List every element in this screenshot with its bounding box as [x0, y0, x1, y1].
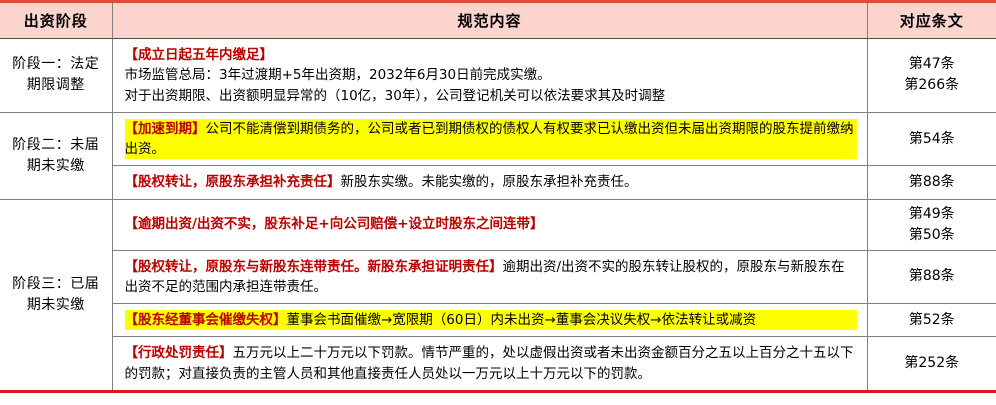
legal-table-container: 出资阶段 规范内容 对应条文 阶段一：法定期限调整【成立日起五年内缴足】市场监管…: [0, 0, 996, 405]
table-row: 【股权转让，原股东与新股东连带责任。新股东承担证明责任】逾期出资/出资不实的股东…: [0, 250, 996, 304]
content-paragraph: 【股权转让，原股东与新股东连带责任。新股东承担证明责任】逾期出资/出资不实的股东…: [125, 257, 857, 298]
content-cell: 【逾期出资/出资不实，股东补足+向公司赔偿+设立时股东之间连带】: [112, 199, 867, 250]
stage-label-cell: 阶段一：法定期限调整: [0, 39, 112, 113]
table-row: 阶段二：未届期未实缴【加速到期】公司不能清偿到期债务的，公司或者已到期债权的债权…: [0, 112, 996, 166]
rule-tag: 【股权转让，原股东与新股东连带责任。新股东承担证明责任】: [125, 259, 503, 275]
rule-tag: 【股权转让，原股东承担补充责任】: [125, 174, 341, 190]
rule-body: 董事会书面催缴→宽限期（60日）内未出资→董事会决议失权→依法转让或减资: [287, 312, 757, 328]
article-reference-cell: 第52条: [867, 304, 996, 337]
content-cell: 【股东经董事会催缴失权】董事会书面催缴→宽限期（60日）内未出资→董事会决议失权…: [112, 304, 867, 337]
article-reference-cell: 第49条 第50条: [867, 199, 996, 250]
header-row: 出资阶段 规范内容 对应条文: [0, 2, 996, 39]
content-paragraph: 【逾期出资/出资不实，股东补足+向公司赔偿+设立时股东之间连带】: [125, 214, 857, 234]
rule-tag: 【加速到期】: [125, 121, 206, 137]
content-paragraph: 【加速到期】公司不能清偿到期债务的，公司或者已到期债权的债权人有权要求已认缴出资…: [125, 119, 857, 160]
content-cell: 【成立日起五年内缴足】市场监管总局：3年过渡期+5年出资期，2032年6月30日…: [112, 39, 867, 113]
table-row: 【股权转让，原股东承担补充责任】新股东实缴。未能实缴的，原股东承担补充责任。第8…: [0, 166, 996, 199]
table-row: 【行政处罚责任】五万元以上二十万元以下罚款。情节严重的，处以虚假出资或者未出资金…: [0, 337, 996, 392]
rule-extra-line: 对于出资期限、出资额明显异常的（10亿，30年），公司登记机关可以依法要求其及时…: [125, 86, 857, 106]
content-cell: 【股权转让，原股东承担补充责任】新股东实缴。未能实缴的，原股东承担补充责任。: [112, 166, 867, 199]
content-cell: 【行政处罚责任】五万元以上二十万元以下罚款。情节严重的，处以虚假出资或者未出资金…: [112, 337, 867, 392]
table-header: 出资阶段 规范内容 对应条文: [0, 2, 996, 39]
column-header-article: 对应条文: [867, 2, 996, 39]
rule-tag: 【成立日起五年内缴足】: [125, 47, 274, 63]
content-paragraph: 【成立日起五年内缴足】: [125, 45, 857, 65]
table-row: 阶段三：已届期未实缴【逾期出资/出资不实，股东补足+向公司赔偿+设立时股东之间连…: [0, 199, 996, 250]
content-cell: 【加速到期】公司不能清偿到期债务的，公司或者已到期债权的债权人有权要求已认缴出资…: [112, 112, 867, 166]
rule-extra-line: 市场监管总局：3年过渡期+5年出资期，2032年6月30日前完成实缴。: [125, 65, 857, 85]
rule-tag: 【逾期出资/出资不实，股东补足+向公司赔偿+设立时股东之间连带】: [125, 216, 544, 232]
article-reference-cell: 第54条: [867, 112, 996, 166]
table-row: 【股东经董事会催缴失权】董事会书面催缴→宽限期（60日）内未出资→董事会决议失权…: [0, 304, 996, 337]
rule-body: 公司不能清偿到期债务的，公司或者已到期债权的债权人有权要求已认缴出资但未届出资期…: [125, 121, 854, 157]
stage-label-cell: 阶段二：未届期未实缴: [0, 112, 112, 199]
column-header-stage: 出资阶段: [0, 2, 112, 39]
content-paragraph: 【股东经董事会催缴失权】董事会书面催缴→宽限期（60日）内未出资→董事会决议失权…: [125, 310, 857, 330]
rule-body: 新股东实缴。未能实缴的，原股东承担补充责任。: [341, 174, 638, 190]
stage-label-cell: 阶段三：已届期未实缴: [0, 199, 112, 391]
article-reference-cell: 第47条 第266条: [867, 39, 996, 113]
content-cell: 【股权转让，原股东与新股东连带责任。新股东承担证明责任】逾期出资/出资不实的股东…: [112, 250, 867, 304]
table-body: 阶段一：法定期限调整【成立日起五年内缴足】市场监管总局：3年过渡期+5年出资期，…: [0, 39, 996, 392]
rule-body: 五万元以上二十万元以下罚款。情节严重的，处以虚假出资或者未出资金额百分之五以上百…: [125, 345, 854, 381]
rule-tag: 【行政处罚责任】: [125, 345, 233, 361]
content-paragraph: 【行政处罚责任】五万元以上二十万元以下罚款。情节严重的，处以虚假出资或者未出资金…: [125, 343, 857, 384]
article-reference-cell: 第88条: [867, 250, 996, 304]
content-paragraph: 【股权转让，原股东承担补充责任】新股东实缴。未能实缴的，原股东承担补充责任。: [125, 172, 857, 192]
rule-tag: 【股东经董事会催缴失权】: [125, 312, 287, 328]
article-reference-cell: 第252条: [867, 337, 996, 392]
column-header-content: 规范内容: [112, 2, 867, 39]
table-row: 阶段一：法定期限调整【成立日起五年内缴足】市场监管总局：3年过渡期+5年出资期，…: [0, 39, 996, 113]
article-reference-cell: 第88条: [867, 166, 996, 199]
capital-contribution-stage-table: 出资阶段 规范内容 对应条文 阶段一：法定期限调整【成立日起五年内缴足】市场监管…: [0, 0, 996, 393]
